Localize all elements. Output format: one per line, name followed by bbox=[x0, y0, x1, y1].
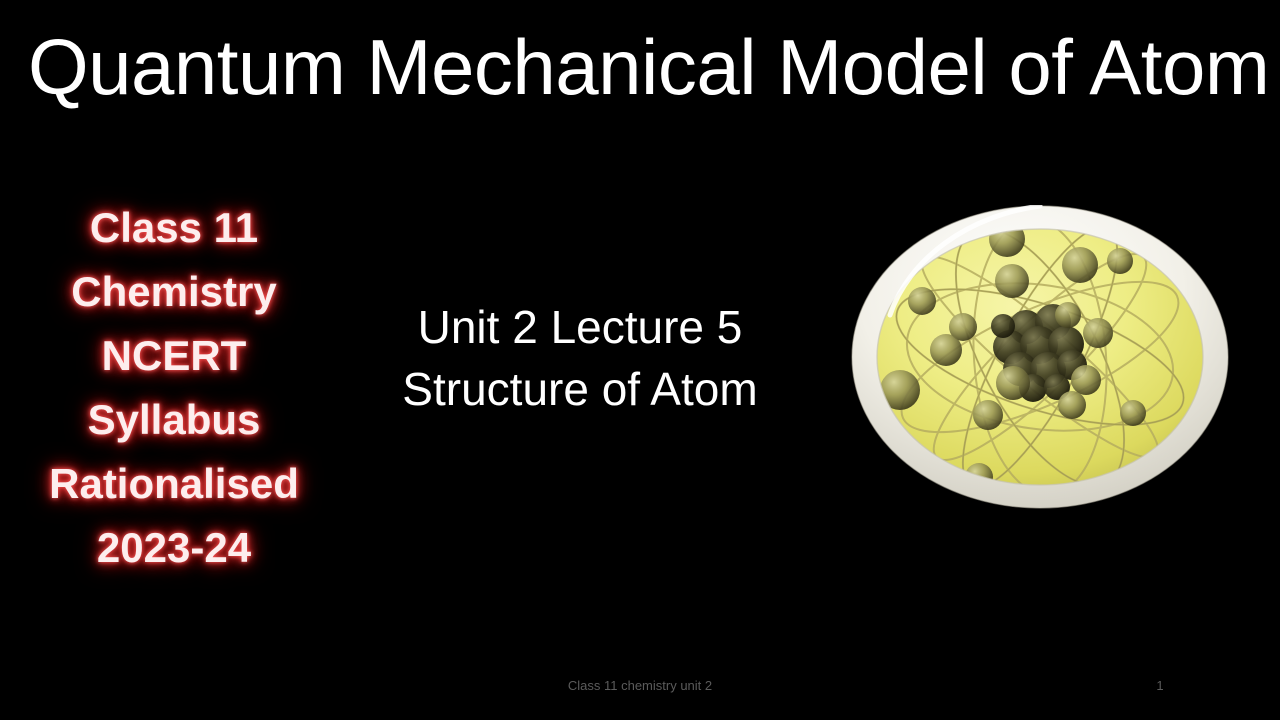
course-info-line: Class 11 bbox=[14, 196, 334, 260]
course-info-line: NCERT bbox=[14, 324, 334, 388]
course-info-line: Rationalised bbox=[14, 452, 334, 516]
lecture-subtitle-line: Unit 2 Lecture 5 bbox=[350, 296, 810, 358]
slide-canvas: Quantum Mechanical Model of Atom Class 1… bbox=[0, 0, 1280, 720]
footer-label: Class 11 chemistry unit 2 bbox=[440, 677, 840, 695]
course-info-line: 2023-24 bbox=[14, 516, 334, 580]
course-info-block: Class 11 Chemistry NCERT Syllabus Ration… bbox=[14, 196, 334, 580]
lecture-subtitle-block: Unit 2 Lecture 5 Structure of Atom bbox=[350, 296, 810, 420]
course-info-line: Chemistry bbox=[14, 260, 334, 324]
course-info-line: Syllabus bbox=[14, 388, 334, 452]
page-title: Quantum Mechanical Model of Atom bbox=[28, 24, 1252, 110]
lecture-subtitle-line: Structure of Atom bbox=[350, 358, 810, 420]
atom-illustration bbox=[850, 205, 1230, 510]
page-number: 1 bbox=[1120, 677, 1200, 695]
